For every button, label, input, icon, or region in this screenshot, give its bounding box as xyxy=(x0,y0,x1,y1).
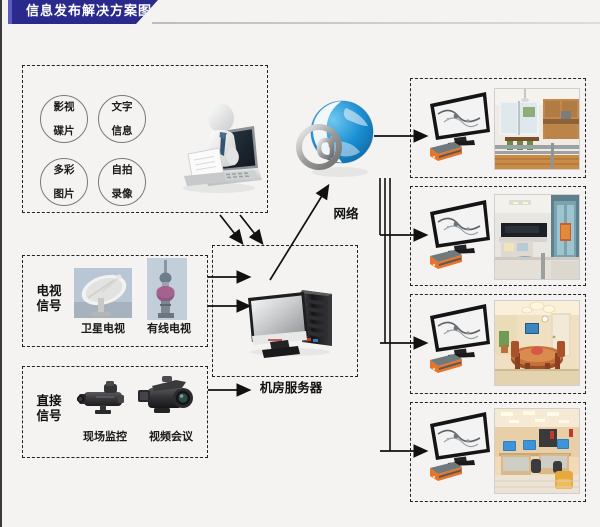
globe-at-icon xyxy=(294,96,378,180)
circle-selfie-video[interactable]: 自拍 录像 xyxy=(98,158,146,206)
media-player-box-icon[interactable] xyxy=(426,352,464,378)
flat-tv-icon xyxy=(426,196,492,254)
circle-label-line2: 录像 xyxy=(112,188,133,200)
media-player-box-icon[interactable] xyxy=(426,248,464,274)
media-player-box-icon[interactable] xyxy=(426,140,464,166)
direct-signal-label: 直接 信号 xyxy=(28,393,70,423)
circle-label-line1: 自拍 xyxy=(112,164,133,176)
network-bus-lines xyxy=(376,178,390,451)
flat-tv-icon xyxy=(426,408,492,466)
desktop-server-icon xyxy=(240,284,342,358)
circle-label-line1: 文字 xyxy=(112,101,133,113)
circle-label-line1: 影视 xyxy=(54,101,75,113)
onsite-monitor-caption: 现场监控 xyxy=(68,430,142,443)
flat-tv-icon xyxy=(426,300,492,358)
tv-signal-label: 电视 信号 xyxy=(28,283,70,313)
cctv-camera-icon xyxy=(76,378,134,420)
page-title: 信息发布解决方案图 xyxy=(26,0,152,24)
warm-dining-room-photo xyxy=(494,300,580,386)
banner-shape: 信息发布解决方案图 xyxy=(8,0,158,24)
camcorder-icon xyxy=(138,374,198,420)
diagram-canvas: 信息发布解决方案图 影视 碟片 文字 信息 多彩 图片 自拍 录像 xyxy=(0,0,600,527)
satellite-dish-icon xyxy=(74,268,132,318)
office-workstations-photo xyxy=(494,408,580,494)
person-at-laptop-icon xyxy=(174,102,264,194)
server-label: 机房服务器 xyxy=(245,380,337,395)
network-label: 网络 xyxy=(322,206,370,221)
arrow-content-to-server-b xyxy=(240,215,262,243)
tv-tower-icon xyxy=(147,258,187,320)
dining-kitchen-room-photo xyxy=(494,88,580,170)
living-room-photo xyxy=(494,194,580,280)
arrow-content-to-server-a xyxy=(220,215,242,243)
circle-label-line2: 碟片 xyxy=(54,125,75,137)
circle-label-line2: 图片 xyxy=(54,188,75,200)
circle-label-line1: 多彩 xyxy=(54,164,75,176)
cable-tv-caption: 有线电视 xyxy=(136,322,202,335)
banner-rule xyxy=(152,22,600,24)
satellite-tv-caption: 卫星电视 xyxy=(66,322,140,335)
circle-color-pictures[interactable]: 多彩 图片 xyxy=(40,158,88,206)
media-player-box-icon[interactable] xyxy=(426,460,464,486)
circle-text-info[interactable]: 文字 信息 xyxy=(98,95,146,143)
video-conference-caption: 视频会议 xyxy=(136,430,206,443)
flat-tv-icon xyxy=(426,88,492,146)
title-banner: 信息发布解决方案图 xyxy=(2,0,600,26)
circle-video-disc[interactable]: 影视 碟片 xyxy=(40,95,88,143)
circle-label-line2: 信息 xyxy=(112,125,133,137)
banner-accent-bar xyxy=(8,0,12,24)
